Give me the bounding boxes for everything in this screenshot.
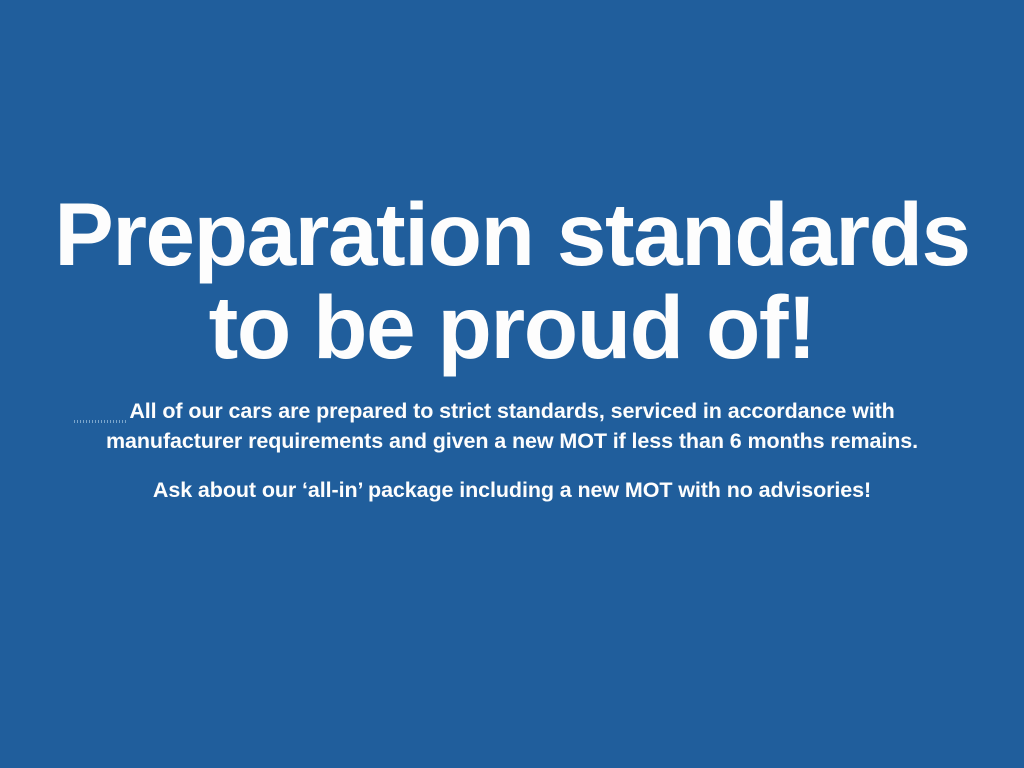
slide-canvas: Preparation standards to be proud of! Al… — [0, 0, 1024, 768]
body-paragraph-primary: All of our cars are prepared to strict s… — [62, 396, 962, 456]
body-text-block: All of our cars are prepared to strict s… — [62, 396, 962, 505]
page-title: Preparation standards to be proud of! — [32, 188, 992, 374]
body-paragraph-secondary: Ask about our ‘all-in’ package including… — [62, 475, 962, 505]
